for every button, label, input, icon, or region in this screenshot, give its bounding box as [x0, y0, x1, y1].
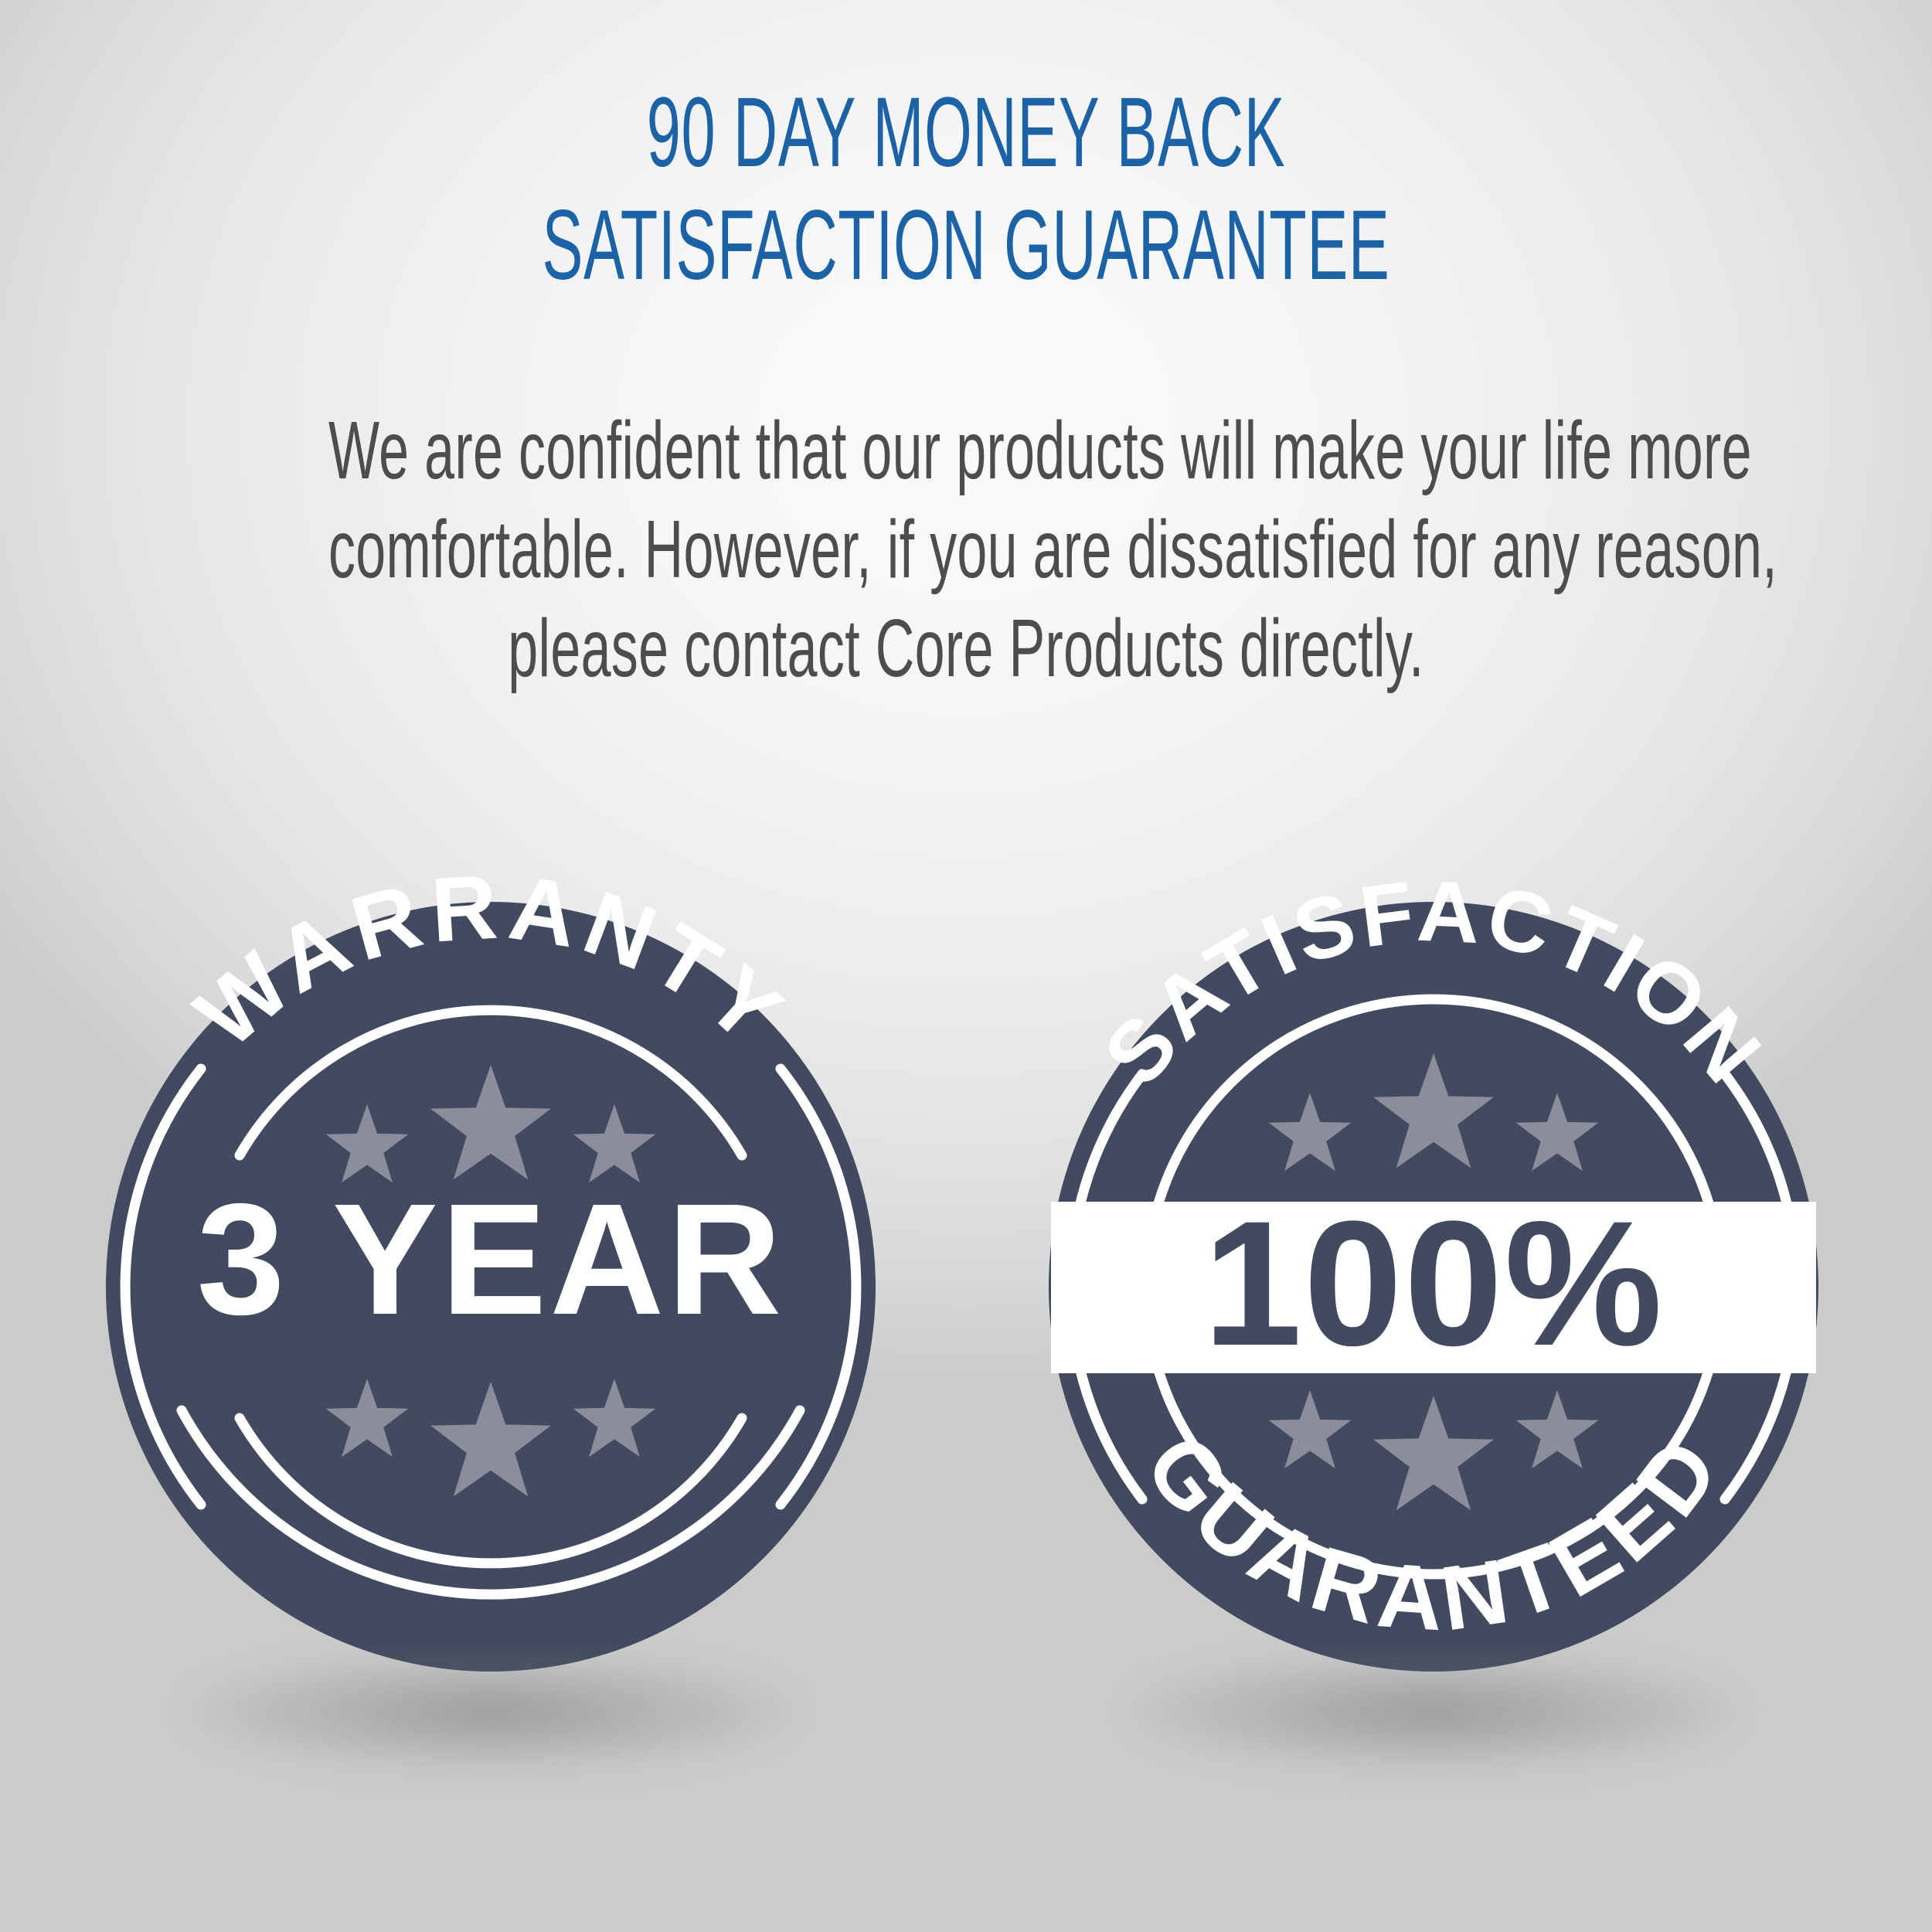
satisfaction-seal-icon: 100% SATISFACTION GUARANTEED [1001, 804, 1866, 1801]
warranty-seal-icon: WARRANTY 3 YEAR [58, 804, 923, 1801]
guarantee-poster: 90 DAY MONEY BACK SATISFACTION GUARANTEE… [0, 0, 1932, 1932]
body-line-3: please contact Core Products directly. [328, 607, 1604, 689]
badge-row: WARRANTY 3 YEAR [0, 804, 1932, 1824]
satisfaction-badge: 100% SATISFACTION GUARANTEED [1001, 804, 1866, 1801]
heading-line-1: 90 DAY MONEY BACK [367, 83, 1565, 182]
satisfaction-banner-text: 100% [1203, 1184, 1664, 1383]
warranty-badge: WARRANTY 3 YEAR [58, 804, 923, 1801]
body-line-1: We are confident that our products will … [328, 410, 1604, 492]
page-title: 90 DAY MONEY BACK SATISFACTION GUARANTEE [0, 83, 1932, 295]
heading-line-2: SATISFACTION GUARANTEE [367, 196, 1565, 295]
body-line-2: comfortable. However, if you are dissati… [328, 509, 1604, 590]
warranty-center-text: 3 YEAR [197, 1171, 785, 1348]
guarantee-description: We are confident that our products will … [0, 410, 1932, 706]
